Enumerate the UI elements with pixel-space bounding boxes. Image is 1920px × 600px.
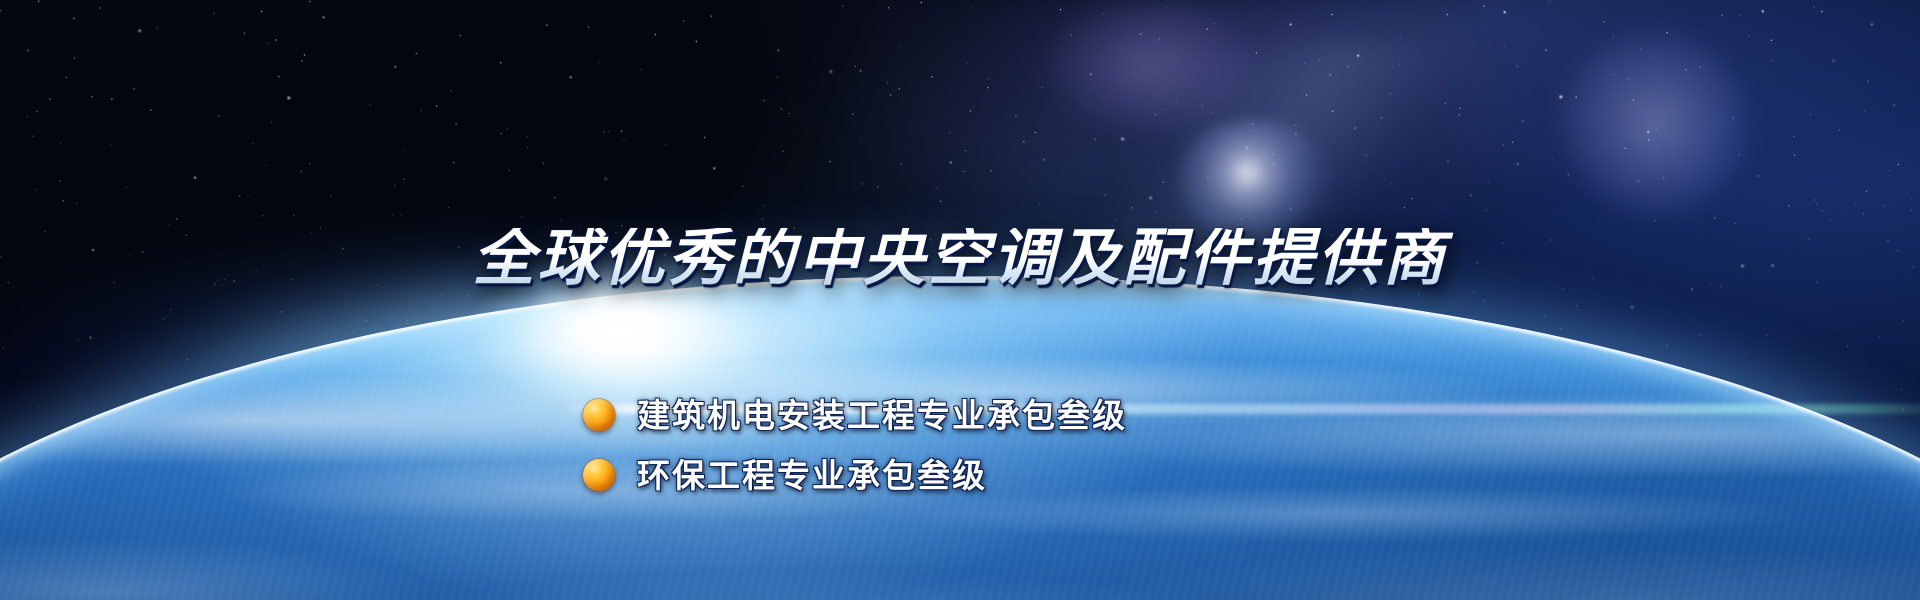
banner-content: 全球优秀的中央空调及配件提供商 建筑机电安装工程专业承包叁级 环保工程专业承包叁…: [0, 0, 1920, 600]
list-item: 环保工程专业承包叁级: [583, 445, 1343, 505]
page-title: 全球优秀的中央空调及配件提供商: [0, 228, 1920, 290]
hero-banner: 全球优秀的中央空调及配件提供商 建筑机电安装工程专业承包叁级 环保工程专业承包叁…: [0, 0, 1920, 600]
list-item-label: 环保工程专业承包叁级: [637, 459, 987, 492]
list-item-label: 建筑机电安装工程专业承包叁级: [637, 399, 1127, 432]
bullet-dot-icon: [583, 399, 615, 431]
certification-list: 建筑机电安装工程专业承包叁级 环保工程专业承包叁级: [583, 385, 1343, 505]
bullet-dot-icon: [583, 459, 615, 491]
list-item: 建筑机电安装工程专业承包叁级: [583, 385, 1343, 445]
